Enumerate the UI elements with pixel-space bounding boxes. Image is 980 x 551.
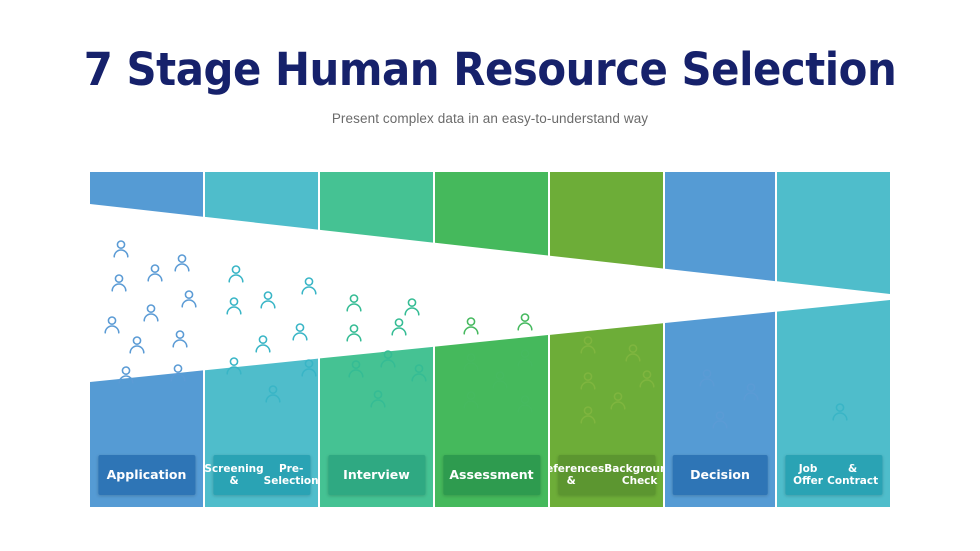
- person-icon: [252, 333, 274, 355]
- person-icon: [178, 288, 200, 310]
- person-icon: [298, 275, 318, 297]
- funnel-stage-7[interactable]: Job Offer& Contract: [777, 172, 890, 507]
- person-icon: [171, 252, 193, 274]
- funnel-chart: ApplicationScreening &Pre-SelectionInter…: [90, 172, 890, 507]
- person-icon: [367, 388, 389, 410]
- funnel-stage-5[interactable]: References &Background Check: [550, 172, 663, 507]
- person-icon: [696, 367, 718, 389]
- person-icon: [257, 289, 279, 311]
- person-icon: [343, 292, 365, 314]
- person-icon: [345, 358, 367, 380]
- person-icon: [140, 302, 162, 324]
- person-icon: [740, 381, 762, 403]
- person-icon: [223, 295, 245, 317]
- slide-root: 7 Stage Human Resource Selection Present…: [0, 0, 980, 551]
- person-icon: [514, 311, 536, 333]
- person-icon: [101, 314, 123, 336]
- stage-label-3[interactable]: Interview: [328, 455, 425, 495]
- person-icon: [577, 404, 599, 426]
- person-icon: [126, 334, 148, 356]
- page-title: 7 Stage Human Resource Selection: [34, 46, 945, 93]
- stage-label-5[interactable]: References &Background Check: [558, 455, 655, 495]
- person-icon: [636, 368, 658, 390]
- person-icon: [460, 389, 482, 411]
- person-icon: [169, 328, 191, 350]
- person-icon: [144, 262, 166, 284]
- funnel-stage-1[interactable]: Application: [90, 172, 203, 507]
- person-icon: [709, 409, 731, 431]
- person-icon: [377, 348, 399, 370]
- stage-label-4[interactable]: Assessment: [443, 455, 540, 495]
- person-icon: [401, 296, 423, 318]
- funnel-stage-3[interactable]: Interview: [320, 172, 433, 507]
- stage-label-7[interactable]: Job Offer& Contract: [785, 455, 882, 495]
- funnel-stage-4[interactable]: Assessment: [435, 172, 548, 507]
- stage-label-2[interactable]: Screening &Pre-Selection: [213, 455, 310, 495]
- person-icon: [577, 334, 599, 356]
- person-icon: [607, 390, 629, 412]
- person-icon: [577, 370, 599, 392]
- person-icon: [167, 362, 189, 384]
- person-icon: [298, 357, 318, 379]
- person-icon: [289, 321, 311, 343]
- person-icon: [460, 315, 482, 337]
- person-icon: [829, 401, 851, 423]
- person-icon: [489, 369, 511, 391]
- person-icon: [408, 362, 430, 384]
- person-icon: [460, 351, 482, 373]
- person-icon: [115, 364, 137, 386]
- person-icon: [514, 393, 536, 415]
- person-icon: [514, 347, 536, 369]
- person-icon: [343, 322, 365, 344]
- person-icon: [110, 238, 132, 260]
- funnel-stage-6[interactable]: Decision: [665, 172, 775, 507]
- stage-label-6[interactable]: Decision: [673, 455, 768, 495]
- person-icon: [108, 272, 130, 294]
- person-icon: [225, 263, 247, 285]
- person-icon: [223, 355, 245, 377]
- funnel-stage-2[interactable]: Screening &Pre-Selection: [205, 172, 318, 507]
- person-icon: [388, 316, 410, 338]
- stage-label-1[interactable]: Application: [98, 455, 195, 495]
- person-icon: [622, 342, 644, 364]
- page-subtitle: Present complex data in an easy-to-under…: [0, 111, 980, 126]
- person-icon: [262, 383, 284, 405]
